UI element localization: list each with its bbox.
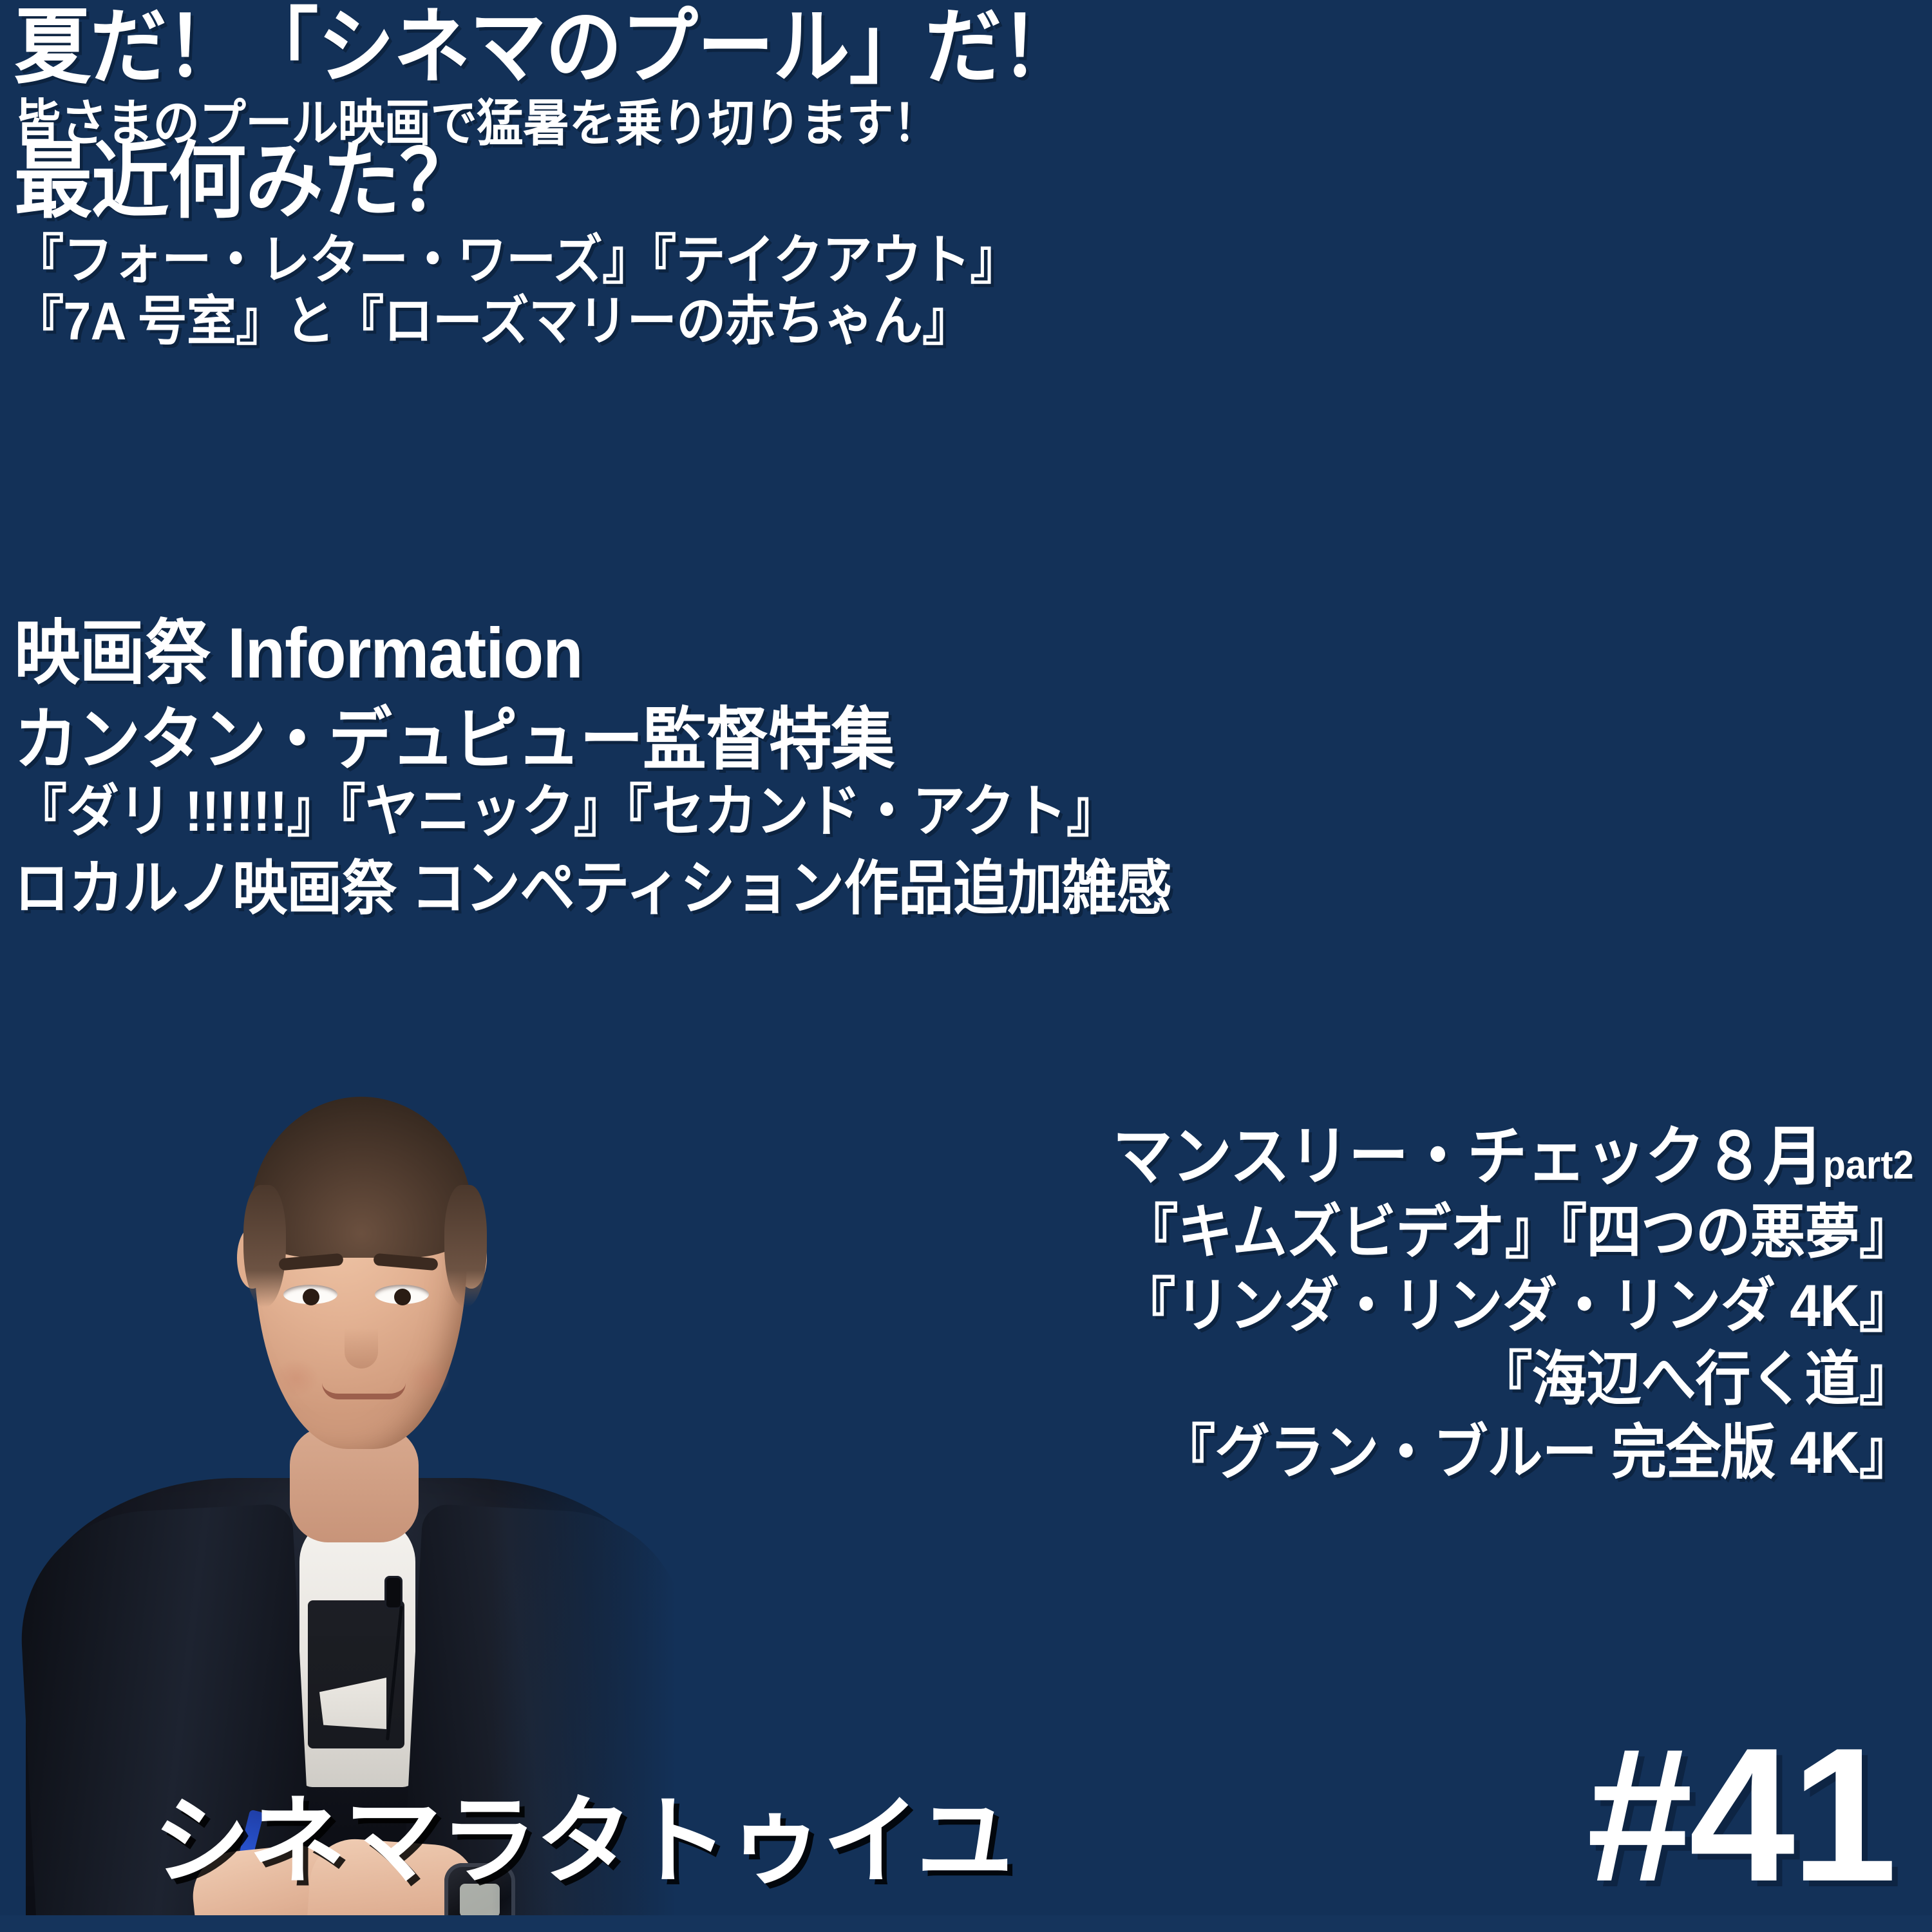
hair-side-left	[243, 1185, 286, 1307]
festival-feature-films: 『ダリ !!!!!!』『ヤニック』『セカンド・アクト』	[14, 783, 1171, 840]
headline-block: 夏だ！「シネマのプール」だ！ 皆さまのプール映画で猛暑を乗り切ります！	[14, 6, 1157, 148]
monthly-check-heading-text: マンスリー・チェック８月	[1113, 1121, 1823, 1193]
mouth	[322, 1383, 406, 1399]
hair-side-right	[444, 1185, 487, 1307]
monthly-check-film-1: 『キムズビデオ』『四つの悪夢』	[1113, 1203, 1914, 1262]
pupil-right	[394, 1289, 411, 1305]
monthly-check-film-2: 『リンダ・リンダ・リンダ 4K』	[1113, 1276, 1914, 1336]
locarno-line: ロカルノ映画祭 コンペティション作品追加雑感	[14, 859, 1171, 918]
headline-line-1: 夏だ！「シネマのプール」だ！	[14, 6, 1077, 89]
recently-watched-block: 最近何みた？ 『フォー・レター・ワーズ』『テイクアウト』 『7A 号室』と『ロー…	[14, 139, 1095, 348]
festival-feature-title: カンタン・デュピュー監督特集	[14, 706, 1171, 774]
recently-watched-line-1: 『フォー・レター・ワーズ』『テイクアウト』	[14, 233, 1019, 287]
recently-watched-line-2: 『7A 号室』と『ローズマリーの赤ちゃん』	[14, 294, 1019, 348]
monthly-check-film-3: 『海辺へ行く道』	[1113, 1350, 1914, 1409]
recently-watched-heading: 最近何みた？	[14, 139, 1019, 223]
festival-info-block: 映画祭 Information カンタン・デュピュー監督特集 『ダリ !!!!!…	[14, 618, 1258, 918]
lavalier-mic-icon	[386, 1578, 401, 1607]
brand-title: シネマラタトゥイユ	[153, 1793, 1012, 1889]
monthly-check-block: マンスリー・チェック８月part2 『キムズビデオ』『四つの悪夢』 『リンダ・リ…	[1052, 1124, 1914, 1482]
episode-number: #41	[1587, 1719, 1893, 1910]
nose	[345, 1311, 378, 1368]
monthly-check-heading: マンスリー・チェック８月part2	[1113, 1124, 1914, 1189]
cheek-left	[274, 1359, 319, 1397]
pupil-left	[303, 1289, 319, 1305]
festival-info-heading: 映画祭 Information	[14, 618, 1171, 689]
monthly-check-film-4: 『グラン・ブルー 完全版 4K』	[1113, 1423, 1914, 1482]
cheek-right	[406, 1359, 451, 1397]
monthly-check-part-label: part2	[1823, 1143, 1914, 1188]
thumbnail-canvas: 夏だ！「シネマのプール」だ！ 皆さまのプール映画で猛暑を乗り切ります！ 最近何み…	[0, 0, 1932, 1932]
